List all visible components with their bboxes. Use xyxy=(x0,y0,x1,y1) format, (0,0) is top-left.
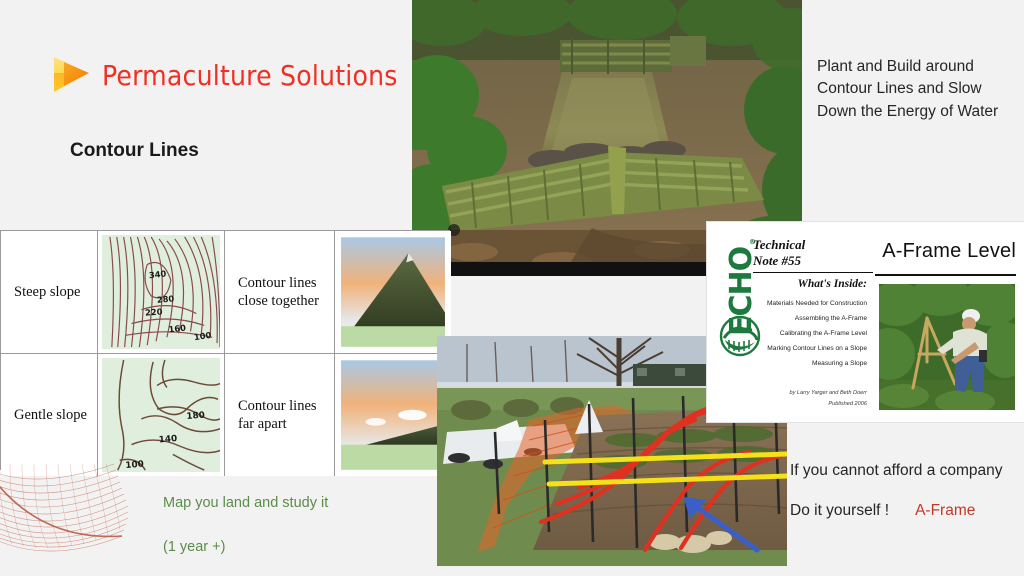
svg-text:280: 280 xyxy=(156,293,174,304)
contour-mesh-bowl-decoration xyxy=(0,462,164,576)
table-cell-profile-gentle xyxy=(335,354,451,476)
list-item: Calibrating the A-Frame Level xyxy=(717,326,867,341)
echo-technical-line2: Note #55 xyxy=(753,253,873,269)
contour-comparison-table: Steep slope xyxy=(0,230,450,470)
svg-text:340: 340 xyxy=(148,268,167,280)
steep-mountain-profile-icon xyxy=(339,235,447,349)
svg-text:220: 220 xyxy=(145,306,163,317)
echo-technical-line1: Technical xyxy=(753,237,873,253)
svg-text:100: 100 xyxy=(125,460,144,472)
gentle-contour-map-icon: 180 140 100 xyxy=(102,358,220,472)
steep-contour-map-icon: 340 280 220 160 100 xyxy=(102,235,220,349)
slide-canvas: Permaculture Solutions Contour Lines xyxy=(0,0,1024,576)
table-cell-description-gentle: Contour lines far apart xyxy=(225,354,335,476)
callout-top-right: Plant and Build around Contour Lines and… xyxy=(817,56,1017,123)
gentle-description-label: Contour lines far apart xyxy=(229,397,330,433)
echo-document-title: A-Frame Level xyxy=(882,240,1016,263)
gentle-hill-profile-icon xyxy=(339,358,447,472)
table-cell-slope-label: Steep slope xyxy=(1,231,98,354)
list-item: Assembling the A-Frame xyxy=(717,311,867,326)
gentle-slope-label: Gentle slope xyxy=(5,406,93,424)
echo-byline: by Larry Yarger and Beth Doerr Published… xyxy=(717,388,867,409)
table-cell-description-steep: Contour lines close together xyxy=(225,231,335,354)
svg-text:160: 160 xyxy=(168,323,187,335)
callout-a-frame-accent: A-Frame xyxy=(915,502,975,519)
green-line-2: (1 year +) xyxy=(163,540,328,556)
callout-map-your-land: Map you land and study it (1 year +) xyxy=(163,496,328,556)
echo-published: Published 2006 xyxy=(717,399,867,410)
svg-text:180: 180 xyxy=(186,411,205,422)
svg-text:140: 140 xyxy=(158,434,177,446)
echo-contents-list: Materials Needed for Construction Assemb… xyxy=(717,296,867,371)
whats-inside-heading: What's Inside: xyxy=(747,278,867,290)
list-item: Measuring a Slope xyxy=(717,356,867,371)
steep-description-label: Contour lines close together xyxy=(229,274,330,310)
callout-cannot-afford: If you cannot afford a company xyxy=(790,460,1020,482)
table-cell-contour-map-steep: 340 280 220 160 100 xyxy=(98,231,225,354)
callout-bottom-right: If you cannot afford a company Do it you… xyxy=(790,460,1020,523)
echo-authors: by Larry Yarger and Beth Doerr xyxy=(717,388,867,399)
brand-lockup: Permaculture Solutions xyxy=(48,52,398,98)
list-item: Marking Contour Lines on a Slope xyxy=(717,341,867,356)
brand-name: Permaculture Solutions xyxy=(102,59,398,92)
table-cell-profile-steep xyxy=(335,231,451,354)
table-cell-slope-label: Gentle slope xyxy=(1,354,98,476)
echo-title-underline xyxy=(875,274,1016,276)
steep-slope-label: Steep slope xyxy=(5,283,93,301)
page-title: Contour Lines xyxy=(70,140,199,162)
callout-diy: Do it yourself ! xyxy=(790,502,889,519)
callout-diy-row: Do it yourself !A-Frame xyxy=(790,500,1020,522)
table-cell-contour-map-gentle: 180 140 100 xyxy=(98,354,225,476)
a-frame-level-photo xyxy=(879,284,1015,410)
play-triangle-logo-icon xyxy=(48,52,94,98)
echo-technical-note-document: ECHO ® Technical Note #55 xyxy=(707,222,1024,422)
green-line-1: Map you land and study it xyxy=(163,496,328,512)
echo-technical-note-label: Technical Note #55 xyxy=(753,237,873,273)
list-item: Materials Needed for Construction xyxy=(717,296,867,311)
